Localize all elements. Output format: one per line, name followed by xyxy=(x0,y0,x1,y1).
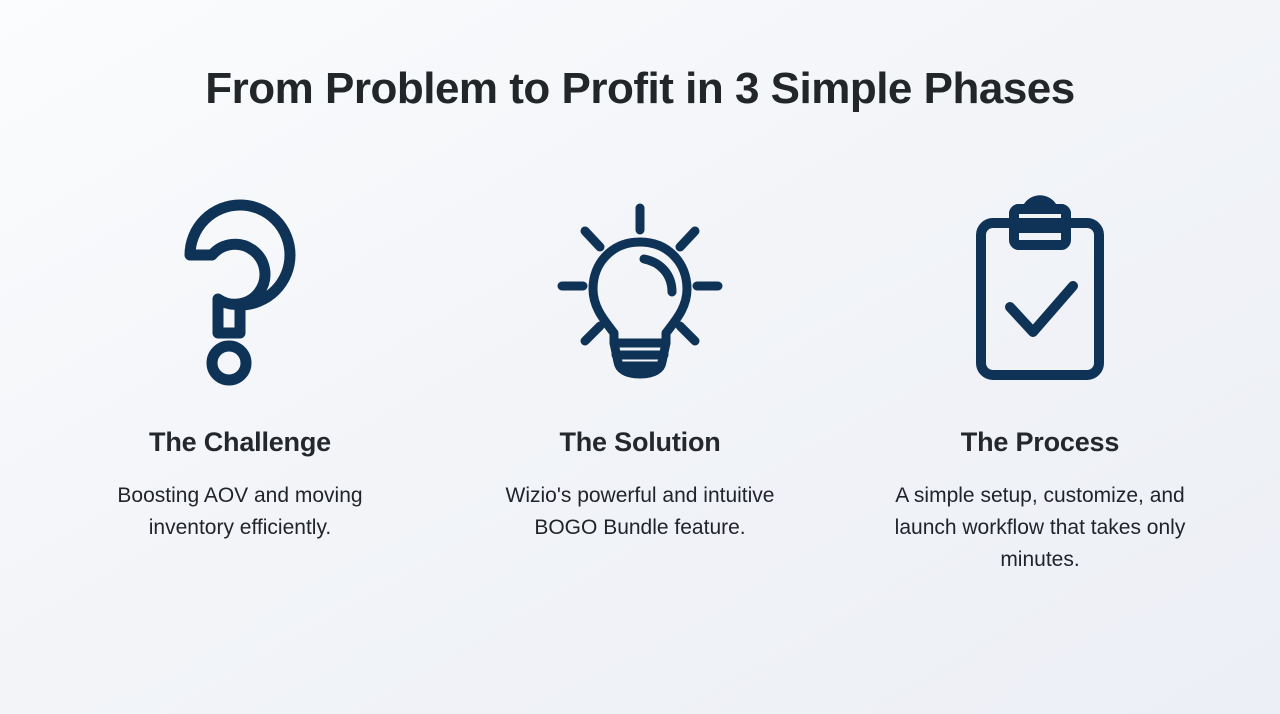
page-title: From Problem to Profit in 3 Simple Phase… xyxy=(205,0,1074,115)
slide-root: From Problem to Profit in 3 Simple Phase… xyxy=(0,0,1280,714)
phase-description: A simple setup, customize, and launch wo… xyxy=(875,458,1205,576)
phase-card-challenge: The Challenge Boosting AOV and moving in… xyxy=(40,199,440,544)
clipboard-check-icon xyxy=(945,199,1135,384)
phase-heading: The Challenge xyxy=(149,384,331,458)
phase-card-solution: The Solution Wizio's powerful and intuit… xyxy=(440,199,840,544)
question-mark-icon xyxy=(145,199,335,384)
phase-description: Wizio's powerful and intuitive BOGO Bund… xyxy=(500,458,780,544)
phase-description: Boosting AOV and moving inventory effici… xyxy=(80,458,400,544)
phase-heading: The Process xyxy=(961,384,1119,458)
phase-card-process: The Process A simple setup, customize, a… xyxy=(840,199,1240,576)
phase-columns: The Challenge Boosting AOV and moving in… xyxy=(0,199,1280,576)
phase-heading: The Solution xyxy=(559,384,720,458)
lightbulb-icon xyxy=(545,199,735,384)
